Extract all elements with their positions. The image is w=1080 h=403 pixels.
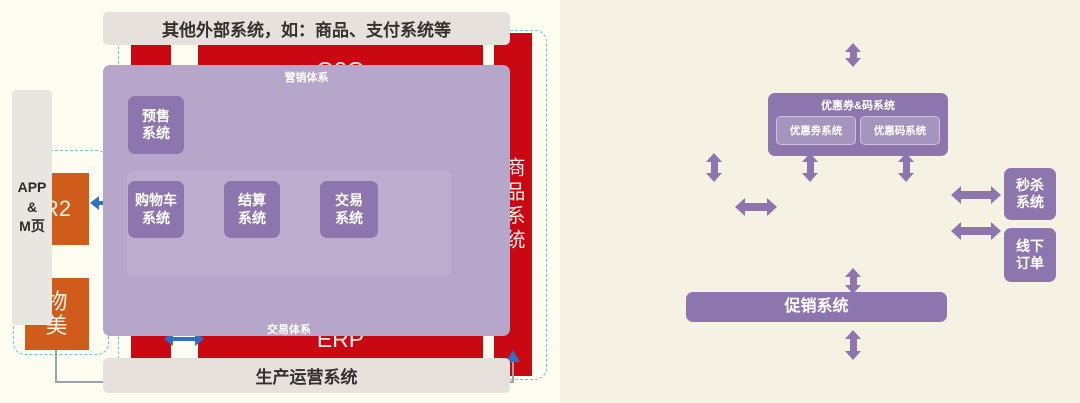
presale-line1: 预售 (142, 108, 170, 126)
seckill-line1: 秒杀 (1016, 177, 1044, 195)
arrow-coupon-to-trade-icon (898, 153, 914, 182)
arrow-trade-to-promotion-icon (845, 268, 861, 294)
cart-line1: 购物车 (135, 192, 177, 210)
arrow-app-to-marketing-icon (735, 198, 777, 216)
node-settlement-system[interactable]: 结算 系统 (224, 181, 280, 238)
seckill-line2: 系统 (1016, 194, 1044, 212)
node-seckill-system[interactable]: 秒杀 系统 (1004, 168, 1056, 220)
app-label-line2: & (27, 198, 37, 218)
band-external-systems: 其他外部系统，如：商品、支付系统等 (103, 12, 510, 45)
app-label-line3: M页 (19, 217, 45, 237)
arrow-presale-to-cart-icon (706, 153, 722, 182)
arrow-coupon-to-settlement-icon (802, 153, 818, 182)
cart-line2: 系统 (142, 210, 170, 228)
band-production-operations: 生产运营系统 (103, 358, 510, 393)
panel-trade-label: 交易体系 (127, 321, 451, 337)
node-app-and-mpage[interactable]: APP & M页 (12, 90, 52, 325)
node-coupon-system[interactable]: 优惠券系统 (776, 116, 856, 145)
arrow-marketing-to-operations-icon (845, 330, 861, 360)
coupon-group-title: 优惠券&码系统 (768, 97, 948, 113)
node-trade-system[interactable]: 交易 系统 (320, 181, 378, 238)
arrow-trade-to-offline-order-icon (951, 222, 1001, 240)
panel-marketing-label: 营销体系 (103, 69, 510, 85)
node-offline-order[interactable]: 线下 订单 (1004, 228, 1056, 282)
trade-line1: 交易 (335, 192, 363, 210)
offline-line1: 线下 (1016, 238, 1044, 256)
node-shopping-cart-system[interactable]: 购物车 系统 (128, 181, 184, 238)
settle-line2: 系统 (238, 210, 266, 228)
group-coupon-and-code-system: 优惠券&码系统 优惠券系统 优惠码系统 (768, 93, 948, 156)
trade-line2: 系统 (335, 210, 363, 228)
node-promotion-system[interactable]: 促销系统 (686, 292, 947, 322)
right-diagram-panel (560, 0, 1080, 403)
node-coupon-code-system[interactable]: 优惠码系统 (860, 116, 940, 145)
arrow-marketing-to-external-icon (845, 43, 861, 67)
offline-line2: 订单 (1016, 255, 1044, 273)
app-label-line1: APP (18, 178, 47, 198)
settle-line1: 结算 (238, 192, 266, 210)
node-presale-system[interactable]: 预售 系统 (128, 96, 184, 154)
arrow-trade-to-seckill-icon (951, 186, 1001, 204)
presale-line2: 系统 (142, 125, 170, 143)
architecture-diagram: R2 物 美 API Center 商品系统 O2O 支付 生产 配送APP E… (0, 0, 1080, 403)
